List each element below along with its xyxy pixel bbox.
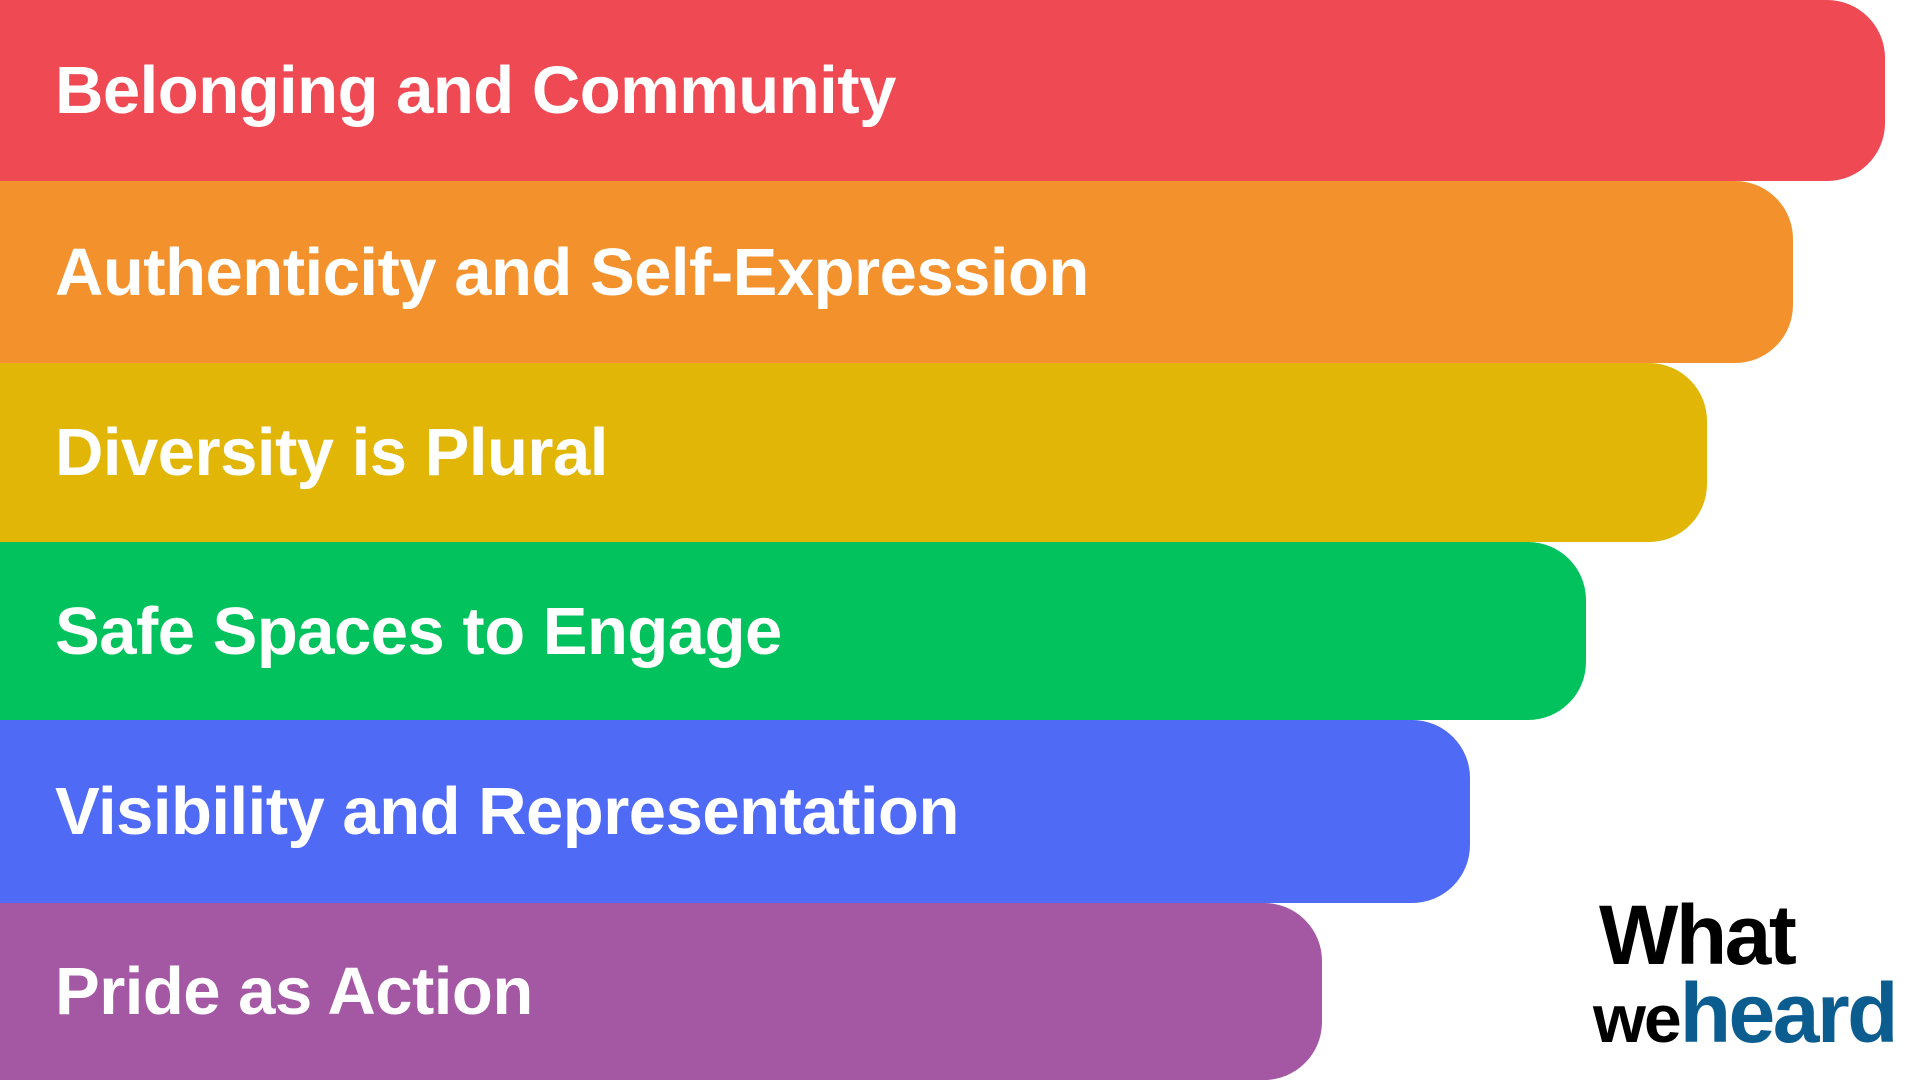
logo-word-we: we (1593, 981, 1680, 1057)
logo-line-we-heard: weheard (1593, 974, 1896, 1052)
theme-bar-label: Visibility and Representation (55, 778, 959, 845)
theme-bar-label: Pride as Action (55, 958, 533, 1025)
theme-bar-authenticity-and-self-expression: Authenticity and Self-Expression (0, 181, 1793, 363)
theme-bar-safe-spaces-to-engage: Safe Spaces to Engage (0, 542, 1586, 720)
themes-infographic: Belonging and Community Authenticity and… (0, 0, 1920, 1080)
theme-bar-label: Diversity is Plural (55, 419, 608, 486)
theme-bar-label: Belonging and Community (55, 57, 896, 124)
logo-line-what: What (1599, 896, 1896, 974)
theme-bar-diversity-is-plural: Diversity is Plural (0, 363, 1707, 542)
theme-bar-pride-as-action: Pride as Action (0, 903, 1322, 1080)
theme-bar-label: Authenticity and Self-Expression (55, 239, 1089, 306)
theme-bar-visibility-and-representation: Visibility and Representation (0, 720, 1470, 903)
what-we-heard-logo: What weheard (1593, 896, 1896, 1052)
logo-word-heard: heard (1680, 966, 1896, 1060)
theme-bar-belonging-and-community: Belonging and Community (0, 0, 1885, 181)
theme-bar-label: Safe Spaces to Engage (55, 598, 782, 665)
